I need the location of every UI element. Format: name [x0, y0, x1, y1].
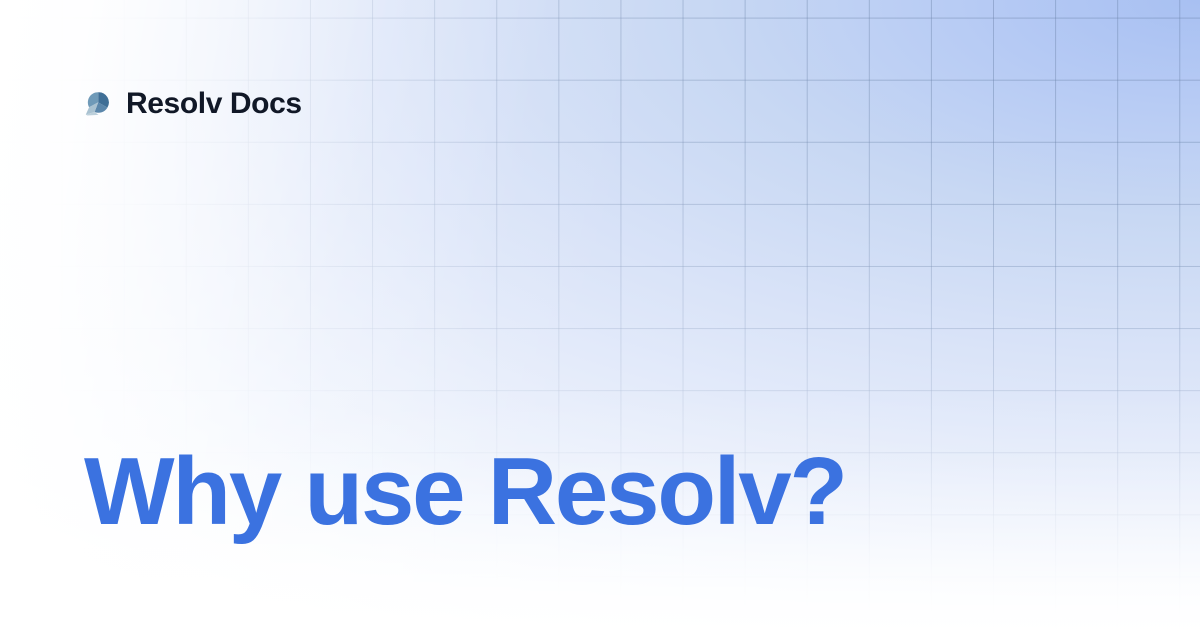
brand-name-label: Resolv Docs — [126, 89, 302, 119]
resolv-pie-logo-icon — [84, 90, 112, 118]
og-card: Resolv Docs Why use Resolv? — [0, 0, 1200, 630]
card-content: Resolv Docs Why use Resolv? — [0, 0, 1200, 630]
page-title: Why use Resolv? — [84, 444, 846, 540]
brand-lockup[interactable]: Resolv Docs — [84, 86, 302, 122]
